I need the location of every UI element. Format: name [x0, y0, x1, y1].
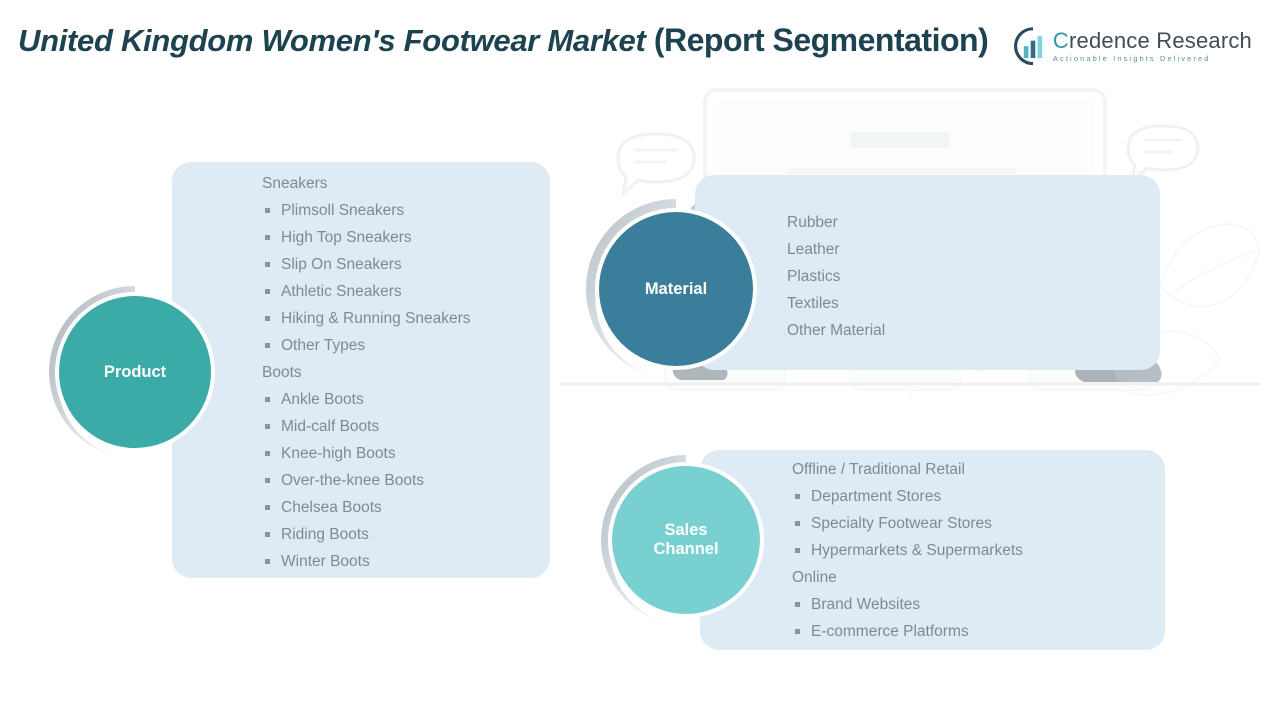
list-item: Mid-calf Boots [262, 413, 471, 440]
bullet-icon [265, 397, 270, 402]
bullet-icon [265, 208, 270, 213]
bullet-icon [795, 548, 800, 553]
list-item: Winter Boots [262, 548, 471, 575]
brand-logo: Credence Research Actionable Insights De… [1011, 24, 1252, 68]
bullet-icon [265, 262, 270, 267]
page-title-main: United Kingdom Women's Footwear Market [18, 23, 654, 58]
material-bubble[interactable]: Material [583, 196, 769, 382]
sales-bubble-label-line2: Channel [653, 540, 718, 559]
list-item: Brand Websites [792, 591, 1023, 618]
sales-channel-bubble[interactable]: Sales Channel [598, 452, 774, 628]
list-item-label: Hypermarkets & Supermarkets [811, 542, 1023, 559]
bullet-icon [265, 505, 270, 510]
slide-canvas: United Kingdom Women's Footwear Market (… [0, 0, 1280, 720]
list-item: Athletic Sneakers [262, 278, 471, 305]
list-item: Leather [787, 236, 885, 263]
bullet-icon [265, 478, 270, 483]
list-item-label: Athletic Sneakers [281, 283, 402, 300]
list-item-label: Riding Boots [281, 526, 369, 543]
bullet-icon [265, 559, 270, 564]
brand-name-initial: C [1053, 28, 1069, 53]
material-bubble-label: Material [599, 212, 753, 366]
list-item-label: Slip On Sneakers [281, 256, 402, 273]
bullet-icon [265, 316, 270, 321]
bullet-icon [795, 494, 800, 499]
sales-online-list: Brand Websites E-commerce Platforms [792, 591, 1023, 645]
list-item: Other Types [262, 332, 471, 359]
sales-offline-list: Department Stores Specialty Footwear Sto… [792, 483, 1023, 564]
sales-bubble-label-line1: Sales [664, 521, 707, 540]
list-item: Knee-high Boots [262, 440, 471, 467]
list-item-label: Other Types [281, 337, 365, 354]
credence-logo-icon [1011, 26, 1055, 66]
product-group-label: Boots [262, 359, 471, 386]
list-item: Hiking & Running Sneakers [262, 305, 471, 332]
bullet-icon [265, 235, 270, 240]
list-item-label: Chelsea Boots [281, 499, 382, 516]
page-title-subject: (Report Segmentation) [654, 22, 988, 58]
list-item-label: Department Stores [811, 488, 941, 505]
list-item-label: Plimsoll Sneakers [281, 202, 404, 219]
bullet-icon [265, 343, 270, 348]
product-group-label: Sneakers [262, 170, 471, 197]
product-boots-list: Ankle Boots Mid-calf Boots Knee-high Boo… [262, 386, 471, 575]
list-item: Slip On Sneakers [262, 251, 471, 278]
product-bubble-label: Product [59, 296, 211, 448]
list-item: Plimsoll Sneakers [262, 197, 471, 224]
list-item: Ankle Boots [262, 386, 471, 413]
list-item-label: Hiking & Running Sneakers [281, 310, 471, 327]
product-sneakers-list: Plimsoll Sneakers High Top Sneakers Slip… [262, 197, 471, 359]
product-card: Sneakers Plimsoll Sneakers High Top Snea… [172, 162, 550, 578]
bullet-icon [795, 602, 800, 607]
material-list: Rubber Leather Plastics Textiles Other M… [787, 209, 885, 344]
brand-name-rest: redence Research [1069, 28, 1252, 53]
list-item: Riding Boots [262, 521, 471, 548]
sales-group-label: Offline / Traditional Retail [792, 456, 1023, 483]
list-item-label: High Top Sneakers [281, 229, 412, 246]
list-item-label: Brand Websites [811, 596, 920, 613]
list-item: Other Material [787, 317, 885, 344]
list-item: Hypermarkets & Supermarkets [792, 537, 1023, 564]
list-item-label: Winter Boots [281, 553, 370, 570]
list-item: Plastics [787, 263, 885, 290]
brand-name: Credence Research [1053, 30, 1252, 52]
product-bubble[interactable]: Product [45, 282, 225, 462]
page-title: United Kingdom Women's Footwear Market (… [18, 22, 988, 59]
list-item: Specialty Footwear Stores [792, 510, 1023, 537]
list-item-label: Mid-calf Boots [281, 418, 379, 435]
bullet-icon [265, 532, 270, 537]
list-item: Rubber [787, 209, 885, 236]
sales-bubble-label: Sales Channel [612, 466, 760, 614]
list-item-label: Knee-high Boots [281, 445, 396, 462]
brand-tagline: Actionable Insights Delivered [1053, 55, 1252, 63]
list-item: E-commerce Platforms [792, 618, 1023, 645]
bullet-icon [265, 289, 270, 294]
bullet-icon [795, 521, 800, 526]
list-item-label: Over-the-knee Boots [281, 472, 424, 489]
brand-logo-text: Credence Research Actionable Insights De… [1053, 30, 1252, 63]
list-item: High Top Sneakers [262, 224, 471, 251]
list-item-label: Specialty Footwear Stores [811, 515, 992, 532]
list-item-label: Ankle Boots [281, 391, 364, 408]
list-item: Department Stores [792, 483, 1023, 510]
list-item: Chelsea Boots [262, 494, 471, 521]
bullet-icon [795, 629, 800, 634]
list-item-label: E-commerce Platforms [811, 623, 969, 640]
list-item: Over-the-knee Boots [262, 467, 471, 494]
slide-header: United Kingdom Women's Footwear Market (… [0, 0, 1280, 86]
list-item: Textiles [787, 290, 885, 317]
sales-group-label: Online [792, 564, 1023, 591]
bullet-icon [265, 424, 270, 429]
bullet-icon [265, 451, 270, 456]
